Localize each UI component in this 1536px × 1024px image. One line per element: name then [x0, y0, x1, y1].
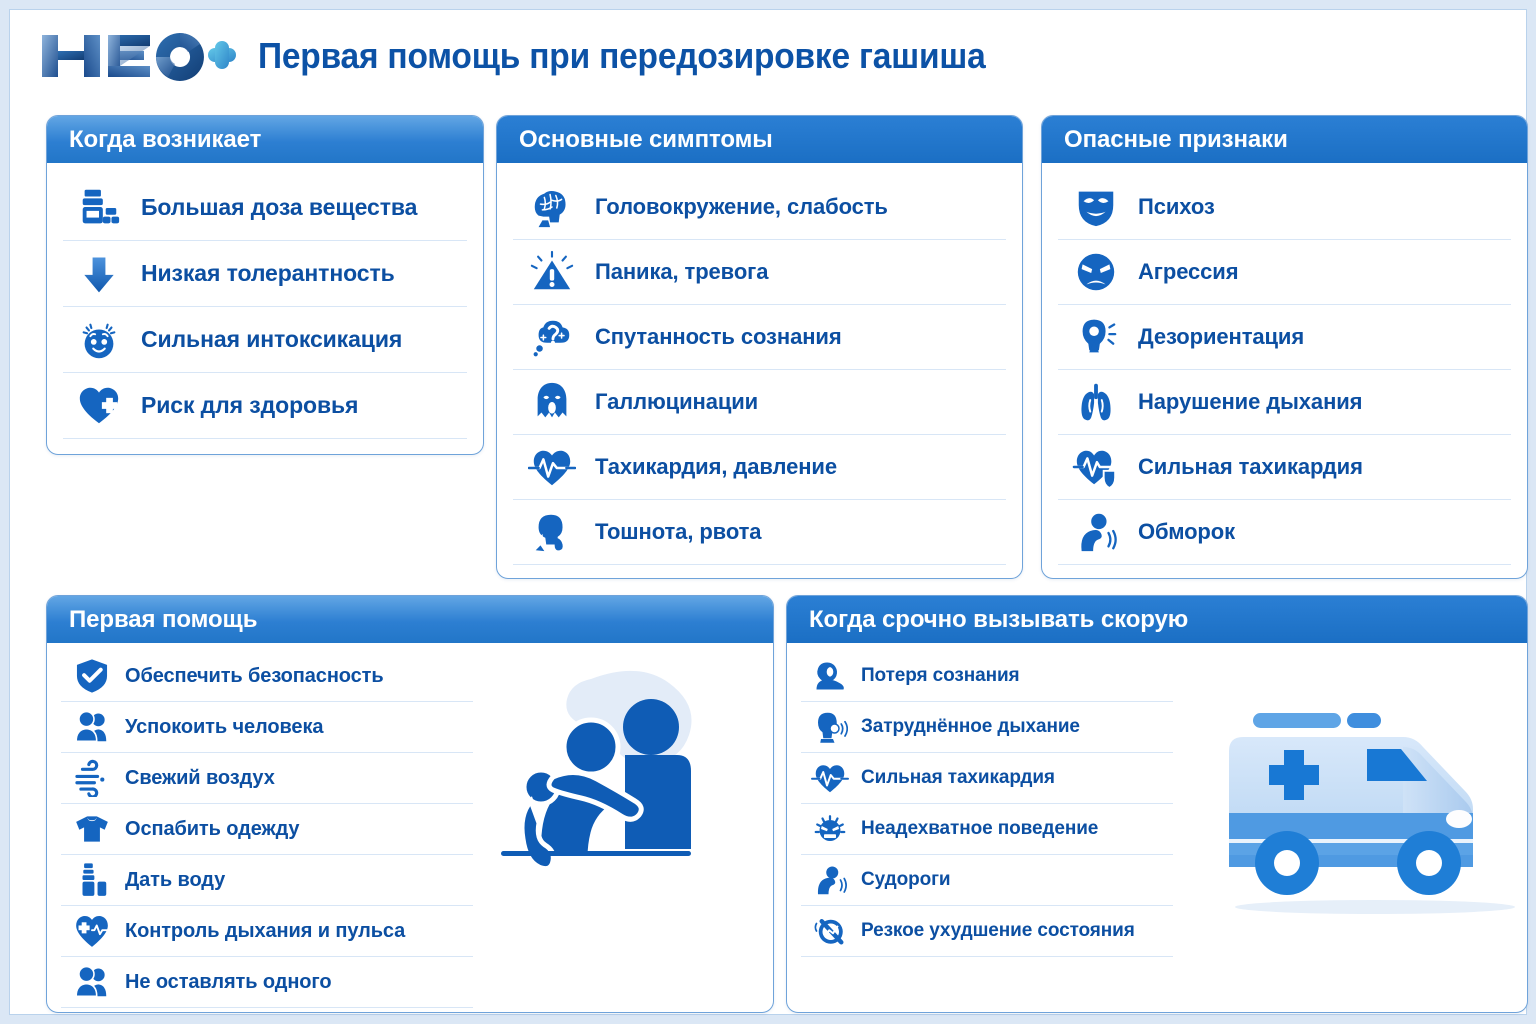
- list-item-label: Затруднённое дыхание: [861, 716, 1080, 738]
- card-main-symptoms-title: Основные симптомы: [497, 116, 1022, 163]
- list-item[interactable]: Тахикардия, давление: [513, 435, 1006, 500]
- angry-face-icon: [1058, 249, 1134, 295]
- list-item[interactable]: Тошнота, рвота: [513, 500, 1006, 565]
- list-item[interactable]: Низкая толерантность: [63, 241, 467, 307]
- heart-cross-icon: [63, 383, 135, 429]
- list-item[interactable]: Обеспечить безопасность: [61, 651, 473, 702]
- list-item-label: Паника, тревога: [595, 259, 768, 285]
- list-item-label: Агрессия: [1138, 259, 1238, 285]
- list-item-label: Оспабить одежду: [125, 818, 299, 841]
- list-item[interactable]: Большая доза вещества: [63, 175, 467, 241]
- lungs-icon: [1058, 379, 1134, 425]
- ghost-icon: [513, 379, 591, 425]
- heart-pulse-icon: [801, 760, 859, 796]
- list-item[interactable]: Риск для здоровья: [63, 373, 467, 439]
- list-item-label: Психоз: [1138, 194, 1215, 220]
- two-people-supporting-illustration: [473, 651, 759, 1008]
- list-item-label: Резкое ухудшение состояния: [861, 920, 1135, 942]
- heart-pulse-icon: [513, 444, 591, 490]
- list-item[interactable]: Свежий воздух: [61, 753, 473, 804]
- list-item-label: Сильная тахикардия: [861, 767, 1055, 789]
- list-item[interactable]: Неадехватное поведение: [801, 804, 1173, 855]
- card-main-symptoms: Основные симптомы: [496, 115, 1023, 579]
- brain-head-icon: [513, 184, 591, 230]
- down-arrow-icon: [63, 252, 135, 296]
- card-call-ambulance-title: Когда срочно вызывать скорую: [787, 596, 1527, 643]
- warning-triangle-icon: [513, 249, 591, 295]
- two-people-icon: [61, 708, 123, 746]
- page-title: Первая помощь при передозировке гашиша: [258, 35, 986, 77]
- ambulance-illustration: [1173, 651, 1513, 957]
- infographic-page: Первая помощь при передозировке гашиша К…: [9, 9, 1527, 1015]
- list-item-label: Обеспечить безопасность: [125, 665, 384, 688]
- agitated-face-icon: [801, 811, 859, 847]
- list-item-label: Обморок: [1138, 519, 1235, 545]
- list-item[interactable]: Сильная тахикардия: [801, 753, 1173, 804]
- list-item[interactable]: Контроль дыхания и пульса: [61, 906, 473, 957]
- list-item[interactable]: Паника, тревога: [513, 240, 1006, 305]
- card-first-aid: Первая помощь Обеспечить безопасность: [46, 595, 774, 1013]
- list-item-label: Тахикардия, давление: [595, 454, 837, 480]
- question-cloud-icon: [513, 314, 591, 360]
- list-item-label: Низкая толерантность: [141, 260, 395, 287]
- water-bottle-icon: [61, 861, 123, 899]
- list-item-label: Риск для здоровья: [141, 392, 358, 419]
- list-item[interactable]: Дать воду: [61, 855, 473, 906]
- evil-mask-icon: [1058, 184, 1134, 230]
- list-item-label: Потеря сознания: [861, 665, 1020, 687]
- list-item[interactable]: Сильная тахикардия: [1058, 435, 1511, 500]
- disoriented-head-icon: [1058, 314, 1134, 360]
- list-item-label: Сильная тахикардия: [1138, 454, 1363, 480]
- card-when-occurs-title: Когда возникает: [47, 116, 483, 163]
- list-item-label: Свежий воздух: [125, 767, 275, 790]
- list-item-label: Дезориентация: [1138, 324, 1304, 350]
- list-item-label: Не оставлять одного: [125, 971, 332, 994]
- list-item-label: Контроль дыхания и пульса: [125, 920, 405, 943]
- list-item-label: Судороги: [861, 869, 951, 891]
- dizzy-face-icon: [63, 317, 135, 363]
- list-item[interactable]: Галлюцинации: [513, 370, 1006, 435]
- list-item-label: Тошнота, рвота: [595, 519, 761, 545]
- card-danger-signs-title: Опасные признаки: [1042, 116, 1527, 163]
- two-people-icon: [61, 963, 123, 1001]
- neo-plus-logo: [40, 30, 236, 82]
- tshirt-icon: [61, 810, 123, 848]
- list-item-label: Нарушение дыхания: [1138, 389, 1362, 415]
- breathing-difficulty-icon: [801, 709, 859, 745]
- card-when-occurs: Когда возникает: [46, 115, 484, 455]
- pill-bottle-icon: [63, 185, 135, 231]
- list-item[interactable]: Судороги: [801, 855, 1173, 906]
- card-call-ambulance: Когда срочно вызывать скорую Потеря созн…: [786, 595, 1528, 1013]
- vomiting-head-icon: [513, 509, 591, 555]
- list-item-label: Успокоить человека: [125, 716, 323, 739]
- card-danger-signs: Опасные признаки Психоз: [1041, 115, 1528, 579]
- list-item[interactable]: Потеря сознания: [801, 651, 1173, 702]
- list-item[interactable]: Спутанность сознания: [513, 305, 1006, 370]
- card-first-aid-title: Первая помощь: [47, 596, 773, 643]
- list-item-label: Дать воду: [125, 869, 225, 892]
- fainting-person-icon: [1058, 509, 1134, 555]
- list-item[interactable]: Затруднённое дыхание: [801, 702, 1173, 753]
- list-item[interactable]: Сильная интоксикация: [63, 307, 467, 373]
- list-item-label: Галлюцинации: [595, 389, 758, 415]
- heart-pulse-shield-icon: [1058, 444, 1134, 490]
- list-item-label: Большая доза вещества: [141, 194, 417, 221]
- list-item[interactable]: Оспабить одежду: [61, 804, 473, 855]
- list-item[interactable]: Психоз: [1058, 175, 1511, 240]
- unconscious-person-icon: [801, 658, 859, 694]
- heart-cross-pulse-icon: [61, 912, 123, 950]
- list-item[interactable]: Резкое ухудшение состояния: [801, 906, 1173, 957]
- list-item[interactable]: Нарушение дыхания: [1058, 370, 1511, 435]
- list-item[interactable]: Агрессия: [1058, 240, 1511, 305]
- list-item[interactable]: Не оставлять одного: [61, 957, 473, 1008]
- list-item-label: Головокружение, слабость: [595, 194, 888, 220]
- worsening-state-icon: [801, 913, 859, 949]
- list-item-label: Спутанность сознания: [595, 324, 842, 350]
- list-item-label: Неадехватное поведение: [861, 818, 1098, 840]
- convulsions-icon: [801, 862, 859, 898]
- wind-icon: [61, 759, 123, 797]
- list-item-label: Сильная интоксикация: [141, 326, 402, 353]
- list-item[interactable]: Дезориентация: [1058, 305, 1511, 370]
- list-item[interactable]: Обморок: [1058, 500, 1511, 565]
- page-header: Первая помощь при передозировке гашиша: [10, 10, 1526, 102]
- list-item[interactable]: Головокружение, слабость: [513, 175, 1006, 240]
- list-item[interactable]: Успокоить человека: [61, 702, 473, 753]
- shield-check-icon: [61, 657, 123, 695]
